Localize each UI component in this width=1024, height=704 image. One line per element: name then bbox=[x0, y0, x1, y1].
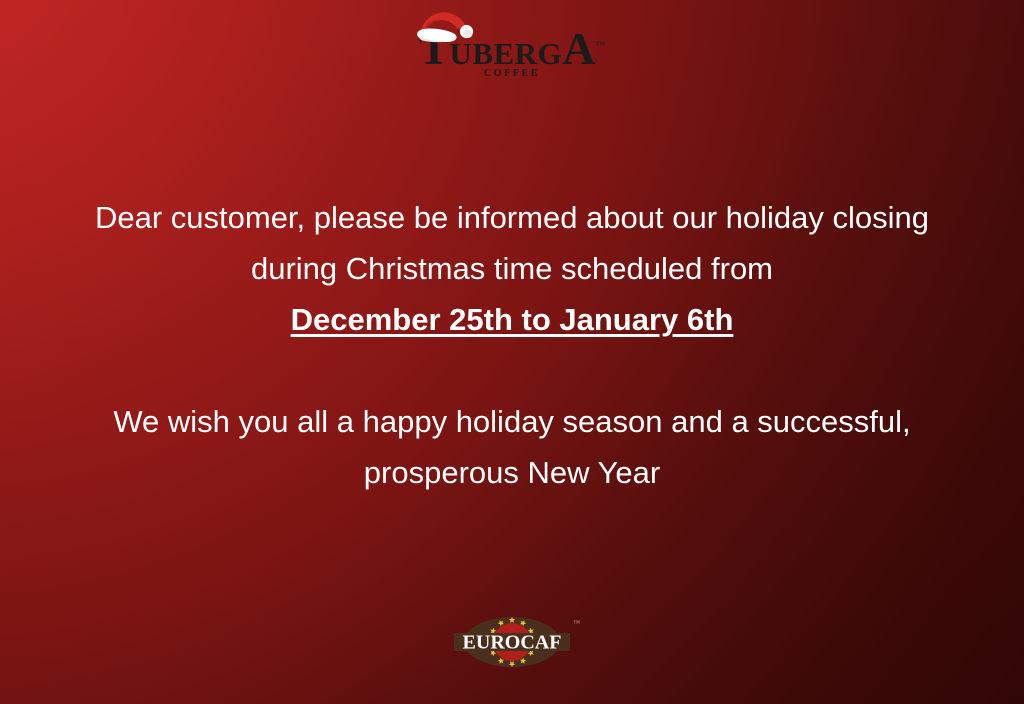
footer-logo: EUROCAF ™ bbox=[0, 612, 1024, 672]
message-line-2: during Christmas time scheduled from bbox=[62, 243, 962, 294]
header-logo: TUBERGA™ COFFEE bbox=[0, 26, 1024, 92]
tuberga-wordmark: TUBERGA™ bbox=[419, 26, 605, 72]
tuberga-letter-a: A bbox=[562, 23, 595, 74]
wishes-line-1: We wish you all a happy holiday season a… bbox=[62, 396, 962, 447]
closing-date-line: December 25th to January 6th bbox=[62, 294, 962, 345]
message-block: Dear customer, please be informed about … bbox=[62, 192, 962, 498]
tuberga-letters-middle: UBERG bbox=[449, 36, 562, 71]
eurocaf-logo: EUROCAF ™ bbox=[450, 615, 574, 669]
eurocaf-wordmark: EUROCAF bbox=[463, 632, 562, 654]
paragraph-spacer bbox=[62, 345, 962, 396]
tuberga-logo: TUBERGA™ COFFEE bbox=[419, 26, 605, 79]
holiday-closing-slide: TUBERGA™ COFFEE Dear customer, please be… bbox=[0, 0, 1024, 704]
trademark-icon: ™ bbox=[595, 40, 605, 51]
message-line-1: Dear customer, please be informed about … bbox=[62, 192, 962, 243]
eurocaf-emblem-icon: EUROCAF bbox=[450, 615, 574, 669]
eurocaf-trademark-icon: ™ bbox=[573, 619, 580, 627]
tuberga-letter-t: T bbox=[419, 23, 450, 74]
wishes-line-2: prosperous New Year bbox=[62, 447, 962, 498]
